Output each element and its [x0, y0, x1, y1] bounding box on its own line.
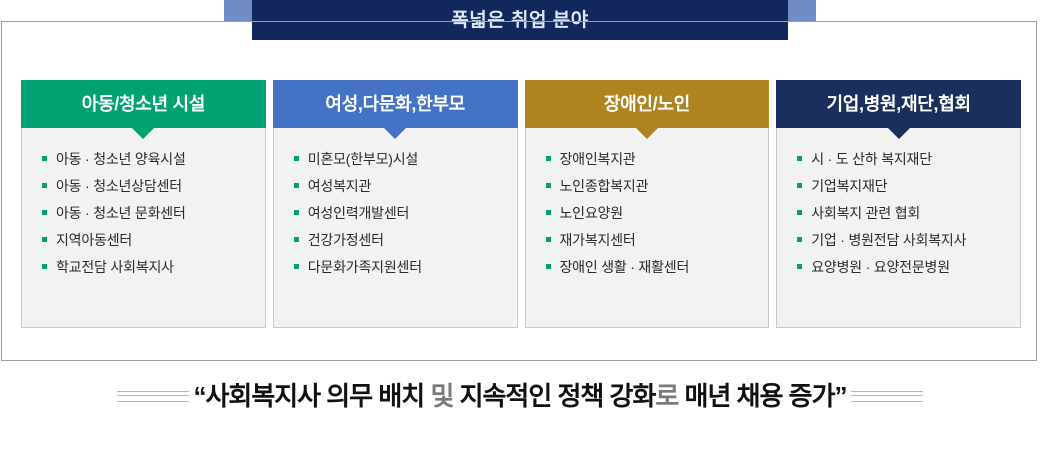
- list-item-label: 시 · 도 산하 복지재단: [811, 151, 932, 167]
- quote-connector-1: 및: [430, 381, 453, 411]
- list-item: 지역아동센터: [42, 232, 265, 248]
- category-card-corporate: 기업,병원,재단,협회 시 · 도 산하 복지재단 기업복지재단 사회복지 관련…: [776, 80, 1021, 328]
- list-item-label: 여성인력개발센터: [308, 205, 409, 221]
- square-bullet-icon: [797, 183, 802, 188]
- list-item: 아동 · 청소년상담센터: [42, 178, 265, 194]
- card-list: 시 · 도 산하 복지재단 기업복지재단 사회복지 관련 협회 기업 · 병원전…: [797, 151, 1020, 275]
- card-header-label: 여성,다문화,한부모: [325, 95, 464, 113]
- square-bullet-icon: [42, 210, 47, 215]
- card-list: 장애인복지관 노인종합복지관 노인요양원 재가복지센터 장애인 생활 · 재활센…: [546, 151, 769, 275]
- footer-quote: “사회복지사 의무 배치 및 지속적인 정책 강화로 매년 채용 증가”: [0, 368, 1040, 424]
- square-bullet-icon: [294, 183, 299, 188]
- square-bullet-icon: [42, 264, 47, 269]
- list-item-label: 노인요양원: [560, 205, 623, 221]
- list-item: 아동 · 청소년 양육시설: [42, 151, 265, 167]
- quote-text: “사회복지사 의무 배치 및 지속적인 정책 강화로 매년 채용 증가”: [189, 383, 850, 409]
- square-bullet-icon: [797, 210, 802, 215]
- list-item-label: 장애인복지관: [560, 151, 636, 167]
- square-bullet-icon: [797, 264, 802, 269]
- list-item-label: 학교전담 사회복지사: [56, 259, 174, 275]
- card-header-label: 기업,병원,재단,협회: [827, 95, 971, 113]
- card-list: 미혼모(한부모)시설 여성복지관 여성인력개발센터 건강가정센터 다문화가족지원…: [294, 151, 517, 275]
- list-item: 미혼모(한부모)시설: [294, 151, 517, 167]
- square-bullet-icon: [42, 183, 47, 188]
- quote-open-mark: “: [193, 381, 205, 411]
- card-header: 아동/청소년 시설: [21, 80, 266, 128]
- square-bullet-icon: [294, 156, 299, 161]
- card-header: 장애인/노인: [525, 80, 770, 128]
- card-body: 아동 · 청소년 양육시설 아동 · 청소년상담센터 아동 · 청소년 문화센터…: [21, 128, 266, 328]
- card-notch-icon: [384, 128, 406, 139]
- square-bullet-icon: [546, 156, 551, 161]
- quote-part-3: 매년 채용 증가: [678, 381, 834, 411]
- list-item-label: 요양병원 · 요양전문병원: [811, 259, 950, 275]
- card-list: 아동 · 청소년 양육시설 아동 · 청소년상담센터 아동 · 청소년 문화센터…: [42, 151, 265, 275]
- list-item: 노인종합복지관: [546, 178, 769, 194]
- list-item-label: 지역아동센터: [56, 232, 132, 248]
- card-header-label: 장애인/노인: [604, 95, 690, 113]
- square-bullet-icon: [294, 237, 299, 242]
- list-item-label: 노인종합복지관: [560, 178, 649, 194]
- list-item: 학교전담 사회복지사: [42, 259, 265, 275]
- quote-part-1: 사회복지사 의무 배치: [205, 381, 430, 411]
- list-item-label: 기업복지재단: [811, 178, 887, 194]
- square-bullet-icon: [797, 237, 802, 242]
- square-bullet-icon: [546, 237, 551, 242]
- quote-part-2: 지속적인 정책 강화: [453, 381, 655, 411]
- square-bullet-icon: [546, 210, 551, 215]
- list-item: 요양병원 · 요양전문병원: [797, 259, 1020, 275]
- list-item-label: 아동 · 청소년 양육시설: [56, 151, 186, 167]
- list-item-label: 기업 · 병원전담 사회복지사: [811, 232, 966, 248]
- list-item: 사회복지 관련 협회: [797, 205, 1020, 221]
- list-item: 노인요양원: [546, 205, 769, 221]
- square-bullet-icon: [546, 183, 551, 188]
- list-item-label: 사회복지 관련 협회: [811, 205, 920, 221]
- square-bullet-icon: [546, 264, 551, 269]
- list-item-label: 장애인 생활 · 재활센터: [560, 259, 690, 275]
- quote-connector-2: 로: [655, 381, 678, 411]
- card-header: 여성,다문화,한부모: [273, 80, 518, 128]
- list-item: 여성인력개발센터: [294, 205, 517, 221]
- list-item: 아동 · 청소년 문화센터: [42, 205, 265, 221]
- card-notch-icon: [132, 128, 154, 139]
- list-item: 기업복지재단: [797, 178, 1020, 194]
- square-bullet-icon: [294, 210, 299, 215]
- list-item: 장애인복지관: [546, 151, 769, 167]
- card-notch-icon: [636, 128, 658, 139]
- card-body: 미혼모(한부모)시설 여성복지관 여성인력개발센터 건강가정센터 다문화가족지원…: [273, 128, 518, 328]
- card-header-label: 아동/청소년 시설: [82, 95, 205, 113]
- quote-close-mark: ”: [835, 381, 847, 411]
- list-item-label: 건강가정센터: [308, 232, 384, 248]
- list-item: 건강가정센터: [294, 232, 517, 248]
- list-item-label: 여성복지관: [308, 178, 371, 194]
- list-item: 기업 · 병원전담 사회복지사: [797, 232, 1020, 248]
- category-card-women: 여성,다문화,한부모 미혼모(한부모)시설 여성복지관 여성인력개발센터 건강가…: [273, 80, 518, 328]
- list-item: 장애인 생활 · 재활센터: [546, 259, 769, 275]
- category-card-disabled-elderly: 장애인/노인 장애인복지관 노인종합복지관 노인요양원 재가복지센터 장애인 생…: [525, 80, 770, 328]
- card-body: 장애인복지관 노인종합복지관 노인요양원 재가복지센터 장애인 생활 · 재활센…: [525, 128, 770, 328]
- list-item: 여성복지관: [294, 178, 517, 194]
- list-item: 시 · 도 산하 복지재단: [797, 151, 1020, 167]
- list-item-label: 미혼모(한부모)시설: [308, 151, 418, 167]
- decorative-rule-left: [117, 391, 189, 402]
- list-item: 다문화가족지원센터: [294, 259, 517, 275]
- square-bullet-icon: [42, 156, 47, 161]
- category-cards: 아동/청소년 시설 아동 · 청소년 양육시설 아동 · 청소년상담센터 아동 …: [21, 80, 1021, 328]
- list-item-label: 다문화가족지원센터: [308, 259, 422, 275]
- square-bullet-icon: [42, 237, 47, 242]
- square-bullet-icon: [797, 156, 802, 161]
- decorative-rule-right: [851, 391, 923, 402]
- list-item-label: 아동 · 청소년 문화센터: [56, 205, 186, 221]
- list-item-label: 아동 · 청소년상담센터: [56, 178, 182, 194]
- list-item: 재가복지센터: [546, 232, 769, 248]
- card-header: 기업,병원,재단,협회: [776, 80, 1021, 128]
- list-item-label: 재가복지센터: [560, 232, 636, 248]
- card-body: 시 · 도 산하 복지재단 기업복지재단 사회복지 관련 협회 기업 · 병원전…: [776, 128, 1021, 328]
- square-bullet-icon: [294, 264, 299, 269]
- card-notch-icon: [888, 128, 910, 139]
- category-card-children: 아동/청소년 시설 아동 · 청소년 양육시설 아동 · 청소년상담센터 아동 …: [21, 80, 266, 328]
